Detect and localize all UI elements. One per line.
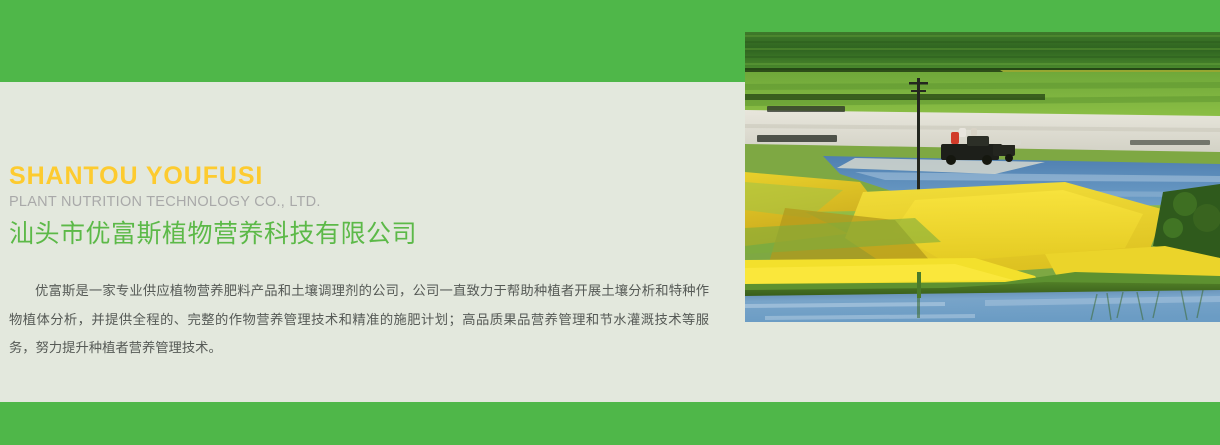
company-description-paragraph: 优富斯是一家专业供应植物营养肥料产品和土壤调理剂的公司，公司一直致力于帮助种植者… <box>9 277 709 363</box>
company-name-chinese: 汕头市优富斯植物营养科技有限公司 <box>9 218 719 250</box>
branding-block: SHANTOU YOUFUSI PLANT NUTRITION TECHNOLO… <box>9 162 719 250</box>
company-name-english: SHANTOU YOUFUSI <box>9 162 719 190</box>
company-intro-page: SHANTOU YOUFUSI PLANT NUTRITION TECHNOLO… <box>0 0 1220 445</box>
bottom-green-band <box>0 402 1220 445</box>
farmland-photo <box>745 32 1220 322</box>
company-subtitle-english: PLANT NUTRITION TECHNOLOGY CO., LTD. <box>9 192 719 212</box>
